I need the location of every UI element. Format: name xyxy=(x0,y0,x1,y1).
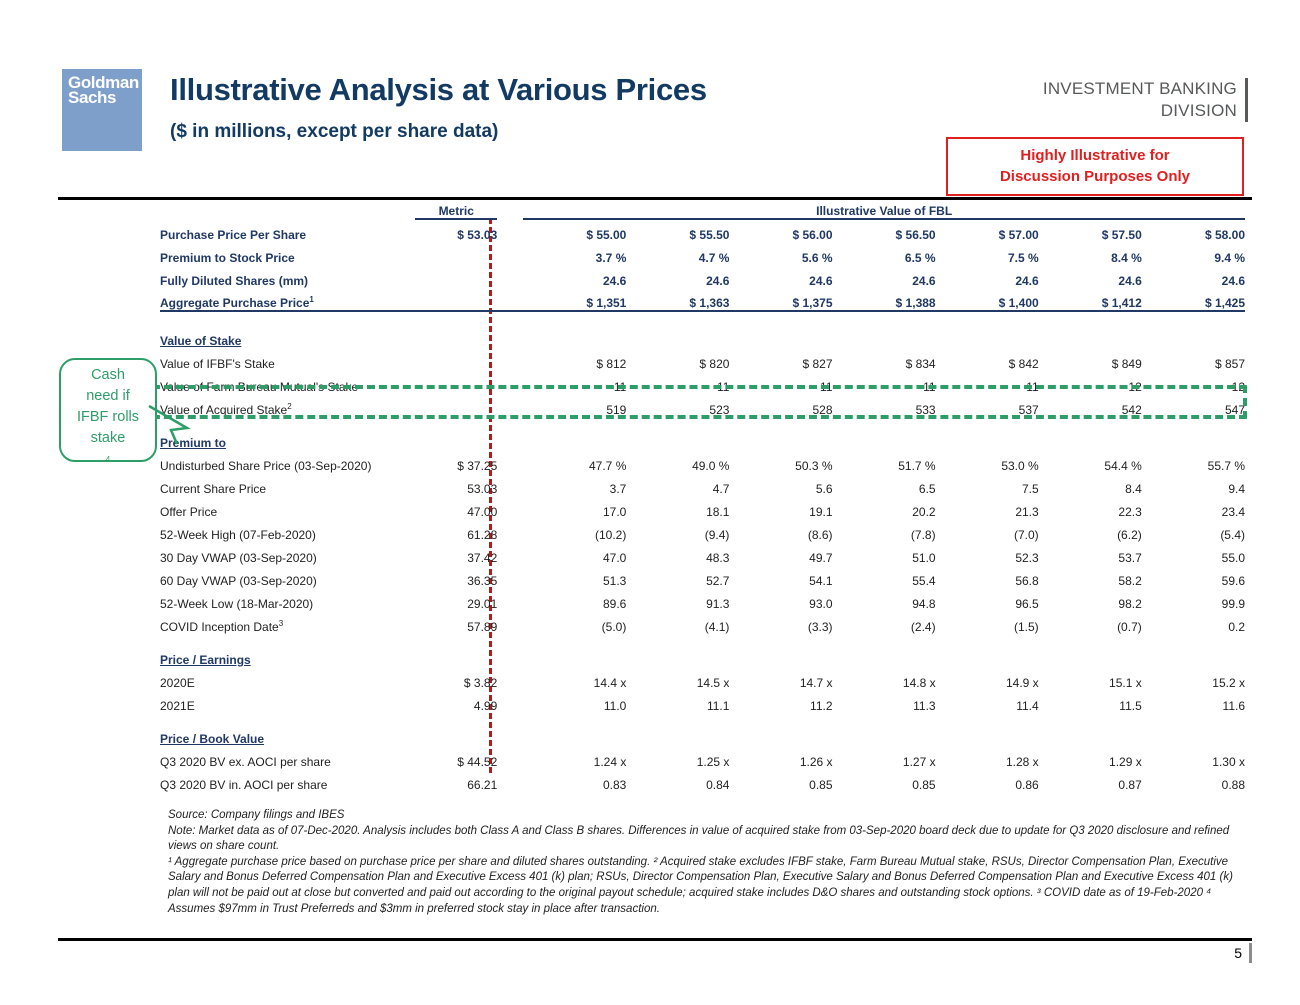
row-label: Offer Price xyxy=(160,496,415,519)
table-header-row: Metric Illustrative Value of FBL xyxy=(160,204,1245,219)
row-value: 59.6 xyxy=(1142,565,1245,588)
row-value: 24.6 xyxy=(833,265,936,288)
row-label: 2020E xyxy=(160,667,415,690)
row-label: Premium to Stock Price xyxy=(160,242,415,265)
goldman-sachs-logo: Goldman Sachs xyxy=(62,69,142,151)
section-header-row: Value of Stake xyxy=(160,325,1245,348)
row-value: (6.2) xyxy=(1039,519,1142,542)
row-value: $ 56.50 xyxy=(833,219,936,242)
row-value: 91.3 xyxy=(626,588,729,611)
row-value: 24.6 xyxy=(523,265,626,288)
row-value: 54.1 xyxy=(729,565,832,588)
row-value: $ 55.00 xyxy=(523,219,626,242)
row-value: $ 58.00 xyxy=(1142,219,1245,242)
row-value: 8.4 % xyxy=(1039,242,1142,265)
division-line-1: INVESTMENT BANKING xyxy=(1043,78,1237,100)
row-value: 5.6 % xyxy=(729,242,832,265)
row-label: Aggregate Purchase Price1 xyxy=(160,288,415,311)
row-value: 9.4 % xyxy=(1142,242,1245,265)
title-block: Illustrative Analysis at Various Prices … xyxy=(170,72,707,144)
row-value: $ 812 xyxy=(523,348,626,371)
row-value: 15.1 x xyxy=(1039,667,1142,690)
division-mark: INVESTMENT BANKING DIVISION xyxy=(1043,78,1248,122)
row-metric xyxy=(415,348,497,371)
row-value: 11.4 xyxy=(936,690,1039,713)
row-value: 52.7 xyxy=(626,565,729,588)
row-metric: $ 3.82 xyxy=(415,667,497,690)
row-value: 99.9 xyxy=(1142,588,1245,611)
row-value: 49.0 % xyxy=(626,450,729,473)
footnotes-block: Source: Company filings and IBES Note: M… xyxy=(168,808,1243,917)
row-value: $ 857 xyxy=(1142,348,1245,371)
row-value: 14.9 x xyxy=(936,667,1039,690)
row-metric: $ 44.52 xyxy=(415,746,497,769)
valuation-table: Metric Illustrative Value of FBL Purchas… xyxy=(160,204,1245,792)
spacer xyxy=(160,634,1245,644)
row-value: (1.5) xyxy=(936,611,1039,634)
header-divider-rule xyxy=(58,197,1252,200)
section-header-row: Premium to xyxy=(160,427,1245,450)
footnote-marker: 3 xyxy=(279,619,283,628)
row-value: 11.2 xyxy=(729,690,832,713)
row-value: 1.26 x xyxy=(729,746,832,769)
row-value: 5.6 xyxy=(729,473,832,496)
section-title: Price / Book Value xyxy=(160,723,415,746)
row-metric xyxy=(415,265,497,288)
row-value: 89.6 xyxy=(523,588,626,611)
table-row: 2021E 4.99 11.0 11.1 11.2 11.3 11.4 11.5… xyxy=(160,690,1245,713)
row-value: 11.6 xyxy=(1142,690,1245,713)
row-value: 1.30 x xyxy=(1142,746,1245,769)
row-value: $ 57.00 xyxy=(936,219,1039,242)
row-value: 50.3 % xyxy=(729,450,832,473)
page-number: 5 xyxy=(1234,943,1252,963)
row-value: 94.8 xyxy=(833,588,936,611)
row-value: 7.5 xyxy=(936,473,1039,496)
row-value: 53.0 % xyxy=(936,450,1039,473)
row-value: 20.2 xyxy=(833,496,936,519)
row-metric: $ 53.03 xyxy=(415,219,497,242)
callout-line-4-text: stake xyxy=(59,428,157,449)
footnote-detail: ¹ Aggregate purchase price based on purc… xyxy=(168,855,1243,917)
row-value: 24.6 xyxy=(1039,265,1142,288)
row-value: 47.7 % xyxy=(523,450,626,473)
row-metric xyxy=(415,242,497,265)
row-value: 24.6 xyxy=(729,265,832,288)
disclaimer-line-1: Highly Illustrative for xyxy=(952,145,1238,166)
row-value: 54.4 % xyxy=(1039,450,1142,473)
row-value: (9.4) xyxy=(626,519,729,542)
row-value: 11.3 xyxy=(833,690,936,713)
row-metric: 47.00 xyxy=(415,496,497,519)
row-value: 1.24 x xyxy=(523,746,626,769)
division-line-2: DIVISION xyxy=(1043,100,1237,122)
row-metric: 53.03 xyxy=(415,473,497,496)
row-value: 14.5 x xyxy=(626,667,729,690)
row-value: 47.0 xyxy=(523,542,626,565)
row-value: 55.7 % xyxy=(1142,450,1245,473)
row-value: (10.2) xyxy=(523,519,626,542)
row-value: 15.2 x xyxy=(1142,667,1245,690)
footnote-source: Source: Company filings and IBES xyxy=(168,808,1243,824)
footnote-note: Note: Market data as of 07-Dec-2020. Ana… xyxy=(168,824,1243,855)
row-value: 23.4 xyxy=(1142,496,1245,519)
row-value: 8.4 xyxy=(1039,473,1142,496)
row-value: 21.3 xyxy=(936,496,1039,519)
row-value: $ 55.50 xyxy=(626,219,729,242)
row-value: 24.6 xyxy=(626,265,729,288)
section-header-row: Price / Book Value xyxy=(160,723,1245,746)
row-value: $ 834 xyxy=(833,348,936,371)
row-value: 56.8 xyxy=(936,565,1039,588)
row-metric xyxy=(415,288,497,311)
row-value: (2.4) xyxy=(833,611,936,634)
row-value: 9.4 xyxy=(1142,473,1245,496)
row-value: 0.85 xyxy=(729,769,832,792)
row-value: 14.4 x xyxy=(523,667,626,690)
footnote-detail-text: Aggregate purchase price based on purcha… xyxy=(168,856,1233,915)
row-label: Current Share Price xyxy=(160,473,415,496)
row-value: 3.7 xyxy=(523,473,626,496)
row-value: 1.29 x xyxy=(1039,746,1142,769)
header-metric: Metric xyxy=(415,204,497,219)
table-row: Purchase Price Per Share $ 53.03 $ 55.00… xyxy=(160,219,1245,242)
row-label: Value of IFBF's Stake xyxy=(160,348,415,371)
row-value: 0.86 xyxy=(936,769,1039,792)
callout-text: Cash need if IFBF rolls stake4 xyxy=(59,358,157,475)
table-row: Current Share Price 53.03 3.7 4.7 5.6 6.… xyxy=(160,473,1245,496)
row-value: (3.3) xyxy=(729,611,832,634)
row-value: 14.7 x xyxy=(729,667,832,690)
row-value: 96.5 xyxy=(936,588,1039,611)
row-value: 0.2 xyxy=(1142,611,1245,634)
section-title: Value of Stake xyxy=(160,325,415,348)
row-value: 0.88 xyxy=(1142,769,1245,792)
row-value: 6.5 % xyxy=(833,242,936,265)
row-value: (7.0) xyxy=(936,519,1039,542)
row-label: 2021E xyxy=(160,690,415,713)
row-value: 51.3 xyxy=(523,565,626,588)
table-row: 2020E $ 3.82 14.4 x 14.5 x 14.7 x 14.8 x… xyxy=(160,667,1245,690)
row-value: 11.0 xyxy=(523,690,626,713)
row-value: $ 57.50 xyxy=(1039,219,1142,242)
cash-need-callout: Cash need if IFBF rolls stake4 xyxy=(59,358,157,462)
table-row: Aggregate Purchase Price1 $ 1,351 $ 1,36… xyxy=(160,288,1245,311)
row-value: 11.1 xyxy=(626,690,729,713)
row-value: 6.5 xyxy=(833,473,936,496)
row-value: $ 1,363 xyxy=(626,288,729,311)
row-value: 1.25 x xyxy=(626,746,729,769)
row-metric: 29.01 xyxy=(415,588,497,611)
row-value: $ 1,400 xyxy=(936,288,1039,311)
callout-line-4: stake4 xyxy=(59,428,157,475)
row-label-text: COVID Inception Date xyxy=(160,620,279,634)
row-value: 55.4 xyxy=(833,565,936,588)
row-value: (0.7) xyxy=(1039,611,1142,634)
row-value: 58.2 xyxy=(1039,565,1142,588)
section-header-row: Price / Earnings xyxy=(160,644,1245,667)
row-metric: 37.42 xyxy=(415,542,497,565)
row-label: Q3 2020 BV ex. AOCI per share xyxy=(160,746,415,769)
table-row: Offer Price 47.00 17.0 18.1 19.1 20.2 21… xyxy=(160,496,1245,519)
row-value: 17.0 xyxy=(523,496,626,519)
row-value: 0.84 xyxy=(626,769,729,792)
row-value: 0.87 xyxy=(1039,769,1142,792)
row-value: 0.83 xyxy=(523,769,626,792)
row-value: 4.7 % xyxy=(626,242,729,265)
table-row: 30 Day VWAP (03-Sep-2020) 37.42 47.0 48.… xyxy=(160,542,1245,565)
table-row: Q3 2020 BV in. AOCI per share 66.21 0.83… xyxy=(160,769,1245,792)
disclaimer-line-2: Discussion Purposes Only xyxy=(952,166,1238,187)
row-label: Q3 2020 BV in. AOCI per share xyxy=(160,769,415,792)
row-label-text: Aggregate Purchase Price xyxy=(160,296,309,310)
row-metric: 66.21 xyxy=(415,769,497,792)
row-value: 24.6 xyxy=(1142,265,1245,288)
table-row: Premium to Stock Price 3.7 % 4.7 % 5.6 %… xyxy=(160,242,1245,265)
callout-line-3: IFBF rolls xyxy=(59,407,157,428)
callout-line-2: need if xyxy=(59,386,157,407)
row-value: $ 842 xyxy=(936,348,1039,371)
table-row: Q3 2020 BV ex. AOCI per share $ 44.52 1.… xyxy=(160,746,1245,769)
row-value: 53.7 xyxy=(1039,542,1142,565)
row-value: $ 1,375 xyxy=(729,288,832,311)
header-blank xyxy=(160,204,415,219)
footnote-marker: 1 xyxy=(309,295,313,304)
row-label: Undisturbed Share Price (03-Sep-2020) xyxy=(160,450,415,473)
row-value: $ 1,351 xyxy=(523,288,626,311)
table-row: Value of IFBF's Stake $ 812 $ 820 $ 827 … xyxy=(160,348,1245,371)
footer-divider-rule xyxy=(58,938,1252,941)
row-label: 30 Day VWAP (03-Sep-2020) xyxy=(160,542,415,565)
row-metric: 61.28 xyxy=(415,519,497,542)
acquired-stake-highlight xyxy=(140,385,1247,419)
row-value: 18.1 xyxy=(626,496,729,519)
page-title: Illustrative Analysis at Various Prices xyxy=(170,72,707,108)
header-illustrative-value: Illustrative Value of FBL xyxy=(523,204,1245,219)
row-value: $ 820 xyxy=(626,348,729,371)
row-value: (5.4) xyxy=(1142,519,1245,542)
row-value: 3.7 % xyxy=(523,242,626,265)
row-value: (4.1) xyxy=(626,611,729,634)
row-value: (7.8) xyxy=(833,519,936,542)
row-metric: 4.99 xyxy=(415,690,497,713)
table-header: Metric Illustrative Value of FBL xyxy=(160,204,1245,219)
row-label: 52-Week Low (18-Mar-2020) xyxy=(160,588,415,611)
row-value: 1.27 x xyxy=(833,746,936,769)
row-value: $ 1,388 xyxy=(833,288,936,311)
row-metric: $ 37.25 xyxy=(415,450,497,473)
row-value: $ 56.00 xyxy=(729,219,832,242)
page-subtitle: ($ in millions, except per share data) xyxy=(170,120,707,144)
row-value: 49.7 xyxy=(729,542,832,565)
callout-line-1: Cash xyxy=(59,365,157,386)
row-label: 60 Day VWAP (03-Sep-2020) xyxy=(160,565,415,588)
row-value: 4.7 xyxy=(626,473,729,496)
row-value: 51.7 % xyxy=(833,450,936,473)
row-value: $ 827 xyxy=(729,348,832,371)
footnote-marker-1: ¹ xyxy=(168,856,172,868)
spacer xyxy=(160,311,1245,325)
row-value: 24.6 xyxy=(936,265,1039,288)
row-value: 19.1 xyxy=(729,496,832,519)
row-value: 93.0 xyxy=(729,588,832,611)
row-value: 51.0 xyxy=(833,542,936,565)
row-value: (8.6) xyxy=(729,519,832,542)
row-value: 14.8 x xyxy=(833,667,936,690)
row-value: 98.2 xyxy=(1039,588,1142,611)
table-row: COVID Inception Date3 57.89 (5.0) (4.1) … xyxy=(160,611,1245,634)
row-value: 1.28 x xyxy=(936,746,1039,769)
table-row: 52-Week High (07-Feb-2020) 61.28 (10.2) … xyxy=(160,519,1245,542)
slide-root: Goldman Sachs Illustrative Analysis at V… xyxy=(0,0,1300,1005)
row-value: $ 1,425 xyxy=(1142,288,1245,311)
row-label: Purchase Price Per Share xyxy=(160,219,415,242)
table-row: Fully Diluted Shares (mm) 24.6 24.6 24.6… xyxy=(160,265,1245,288)
row-value: 11.5 xyxy=(1039,690,1142,713)
disclaimer-box: Highly Illustrative for Discussion Purpo… xyxy=(946,137,1244,196)
logo-line-2: Sachs xyxy=(68,90,142,105)
table-row: 52-Week Low (18-Mar-2020) 29.01 89.6 91.… xyxy=(160,588,1245,611)
row-value: 52.3 xyxy=(936,542,1039,565)
spacer xyxy=(160,713,1245,723)
footnote-marker: 4 xyxy=(106,455,110,464)
row-value: 48.3 xyxy=(626,542,729,565)
table-row: Undisturbed Share Price (03-Sep-2020) $ … xyxy=(160,450,1245,473)
header-gap xyxy=(497,204,523,219)
valuation-table-wrap: Metric Illustrative Value of FBL Purchas… xyxy=(160,204,1245,792)
row-value: $ 849 xyxy=(1039,348,1142,371)
table-row: 60 Day VWAP (03-Sep-2020) 36.35 51.3 52.… xyxy=(160,565,1245,588)
row-value: 55.0 xyxy=(1142,542,1245,565)
row-label: Fully Diluted Shares (mm) xyxy=(160,265,415,288)
logo-text: Goldman Sachs xyxy=(62,69,142,105)
row-label: COVID Inception Date3 xyxy=(160,611,415,634)
row-metric: 57.89 xyxy=(415,611,497,634)
row-metric: 36.35 xyxy=(415,565,497,588)
row-value: 22.3 xyxy=(1039,496,1142,519)
section-title: Price / Earnings xyxy=(160,644,415,667)
table-body: Purchase Price Per Share $ 53.03 $ 55.00… xyxy=(160,219,1245,792)
row-value: 0.85 xyxy=(833,769,936,792)
row-label: 52-Week High (07-Feb-2020) xyxy=(160,519,415,542)
row-value: 7.5 % xyxy=(936,242,1039,265)
row-value: $ 1,412 xyxy=(1039,288,1142,311)
row-value: (5.0) xyxy=(523,611,626,634)
